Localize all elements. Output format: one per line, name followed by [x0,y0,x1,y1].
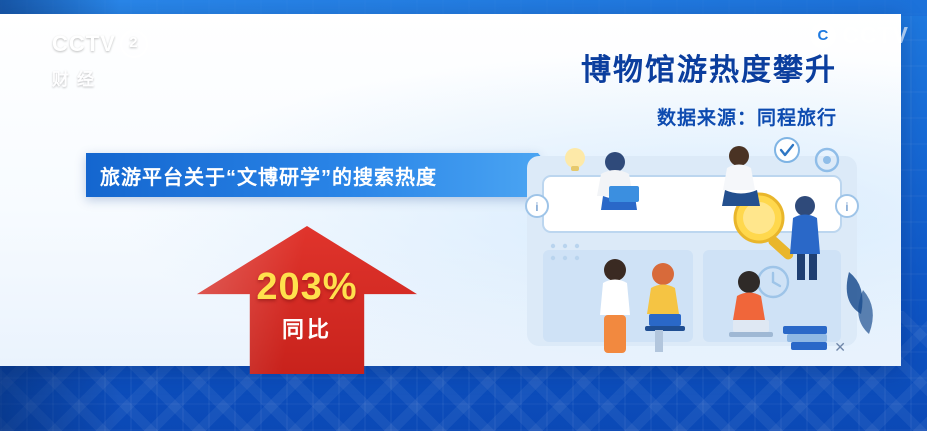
watermark-text: CCTV [842,22,909,49]
metric-banner: 旅游平台关于“文博研学”的搜索热度 [86,153,538,197]
watermark-badge-icon: C [810,23,836,49]
broadcast-frame: 博物馆游热度攀升 数据来源：同程旅行 旅游平台关于“文博研学”的搜索热度 203… [0,0,927,431]
headline-block: 博物馆游热度攀升 数据来源：同程旅行 [581,54,837,130]
channel-watermark: C CCTV [810,22,909,49]
svg-text:i: i [536,200,539,214]
page-title: 博物馆游热度攀升 [581,54,837,87]
cctv-logo-main: CCTV 2 [52,30,202,58]
info-icon-right: i [836,195,858,217]
info-icon: i [526,195,548,217]
cctv-logo: CCTV 2 财经 [52,30,202,90]
close-icon[interactable]: ✕ [834,339,846,356]
check-icon [775,138,799,162]
cctv-logo-text: CCTV [52,33,116,55]
growth-arrow: 203% 同比 [197,226,417,374]
person-standing-left [600,259,630,353]
svg-text:i: i [846,200,849,214]
cctv-logo-sub: 财经 [52,65,202,90]
growth-percent-value: 203% [197,266,417,309]
books-decoration [783,326,827,350]
people-working-illustration: i i [497,130,887,380]
data-source-label: 数据来源：同程旅行 [581,103,837,130]
growth-comparison-label: 同比 [197,312,417,344]
cctv-logo-channel-number: 2 [120,30,148,58]
metric-banner-label: 旅游平台关于“文博研学”的搜索热度 [86,161,437,190]
